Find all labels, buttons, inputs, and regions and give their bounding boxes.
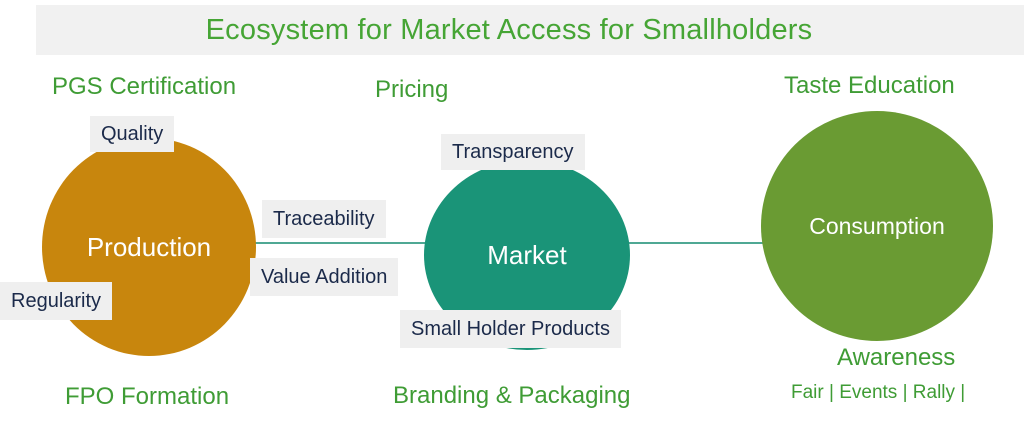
callout-traceability: Traceability [262,200,386,238]
annotation-taste-education: Taste Education [784,74,955,98]
node-consumption-label: Consumption [809,213,945,240]
node-consumption[interactable]: Consumption [761,111,993,341]
annotation-fair-events-rally: Fair | Events | Rally | [791,383,965,402]
node-production[interactable]: Production [42,138,256,356]
callout-small-holder-products: Small Holder Products [400,310,621,348]
annotation-pricing: Pricing [375,78,448,102]
node-production-label: Production [87,232,211,263]
diagram-canvas: Ecosystem for Market Access for Smallhol… [0,0,1024,435]
annotation-fpo-formation: FPO Formation [65,385,229,409]
page-title: Ecosystem for Market Access for Smallhol… [36,5,982,55]
callout-value-addition: Value Addition [250,258,398,296]
node-market-label: Market [487,240,566,271]
connector-market-to-consumption [622,242,774,244]
callout-transparency: Transparency [441,134,585,170]
connector-production-to-market [238,242,438,244]
annotation-awareness: Awareness [837,346,955,370]
callout-regularity: Regularity [0,282,112,320]
annotation-branding-packaging: Branding & Packaging [393,384,631,408]
annotation-pgs-certification: PGS Certification [52,75,236,99]
callout-quality: Quality [90,116,174,152]
